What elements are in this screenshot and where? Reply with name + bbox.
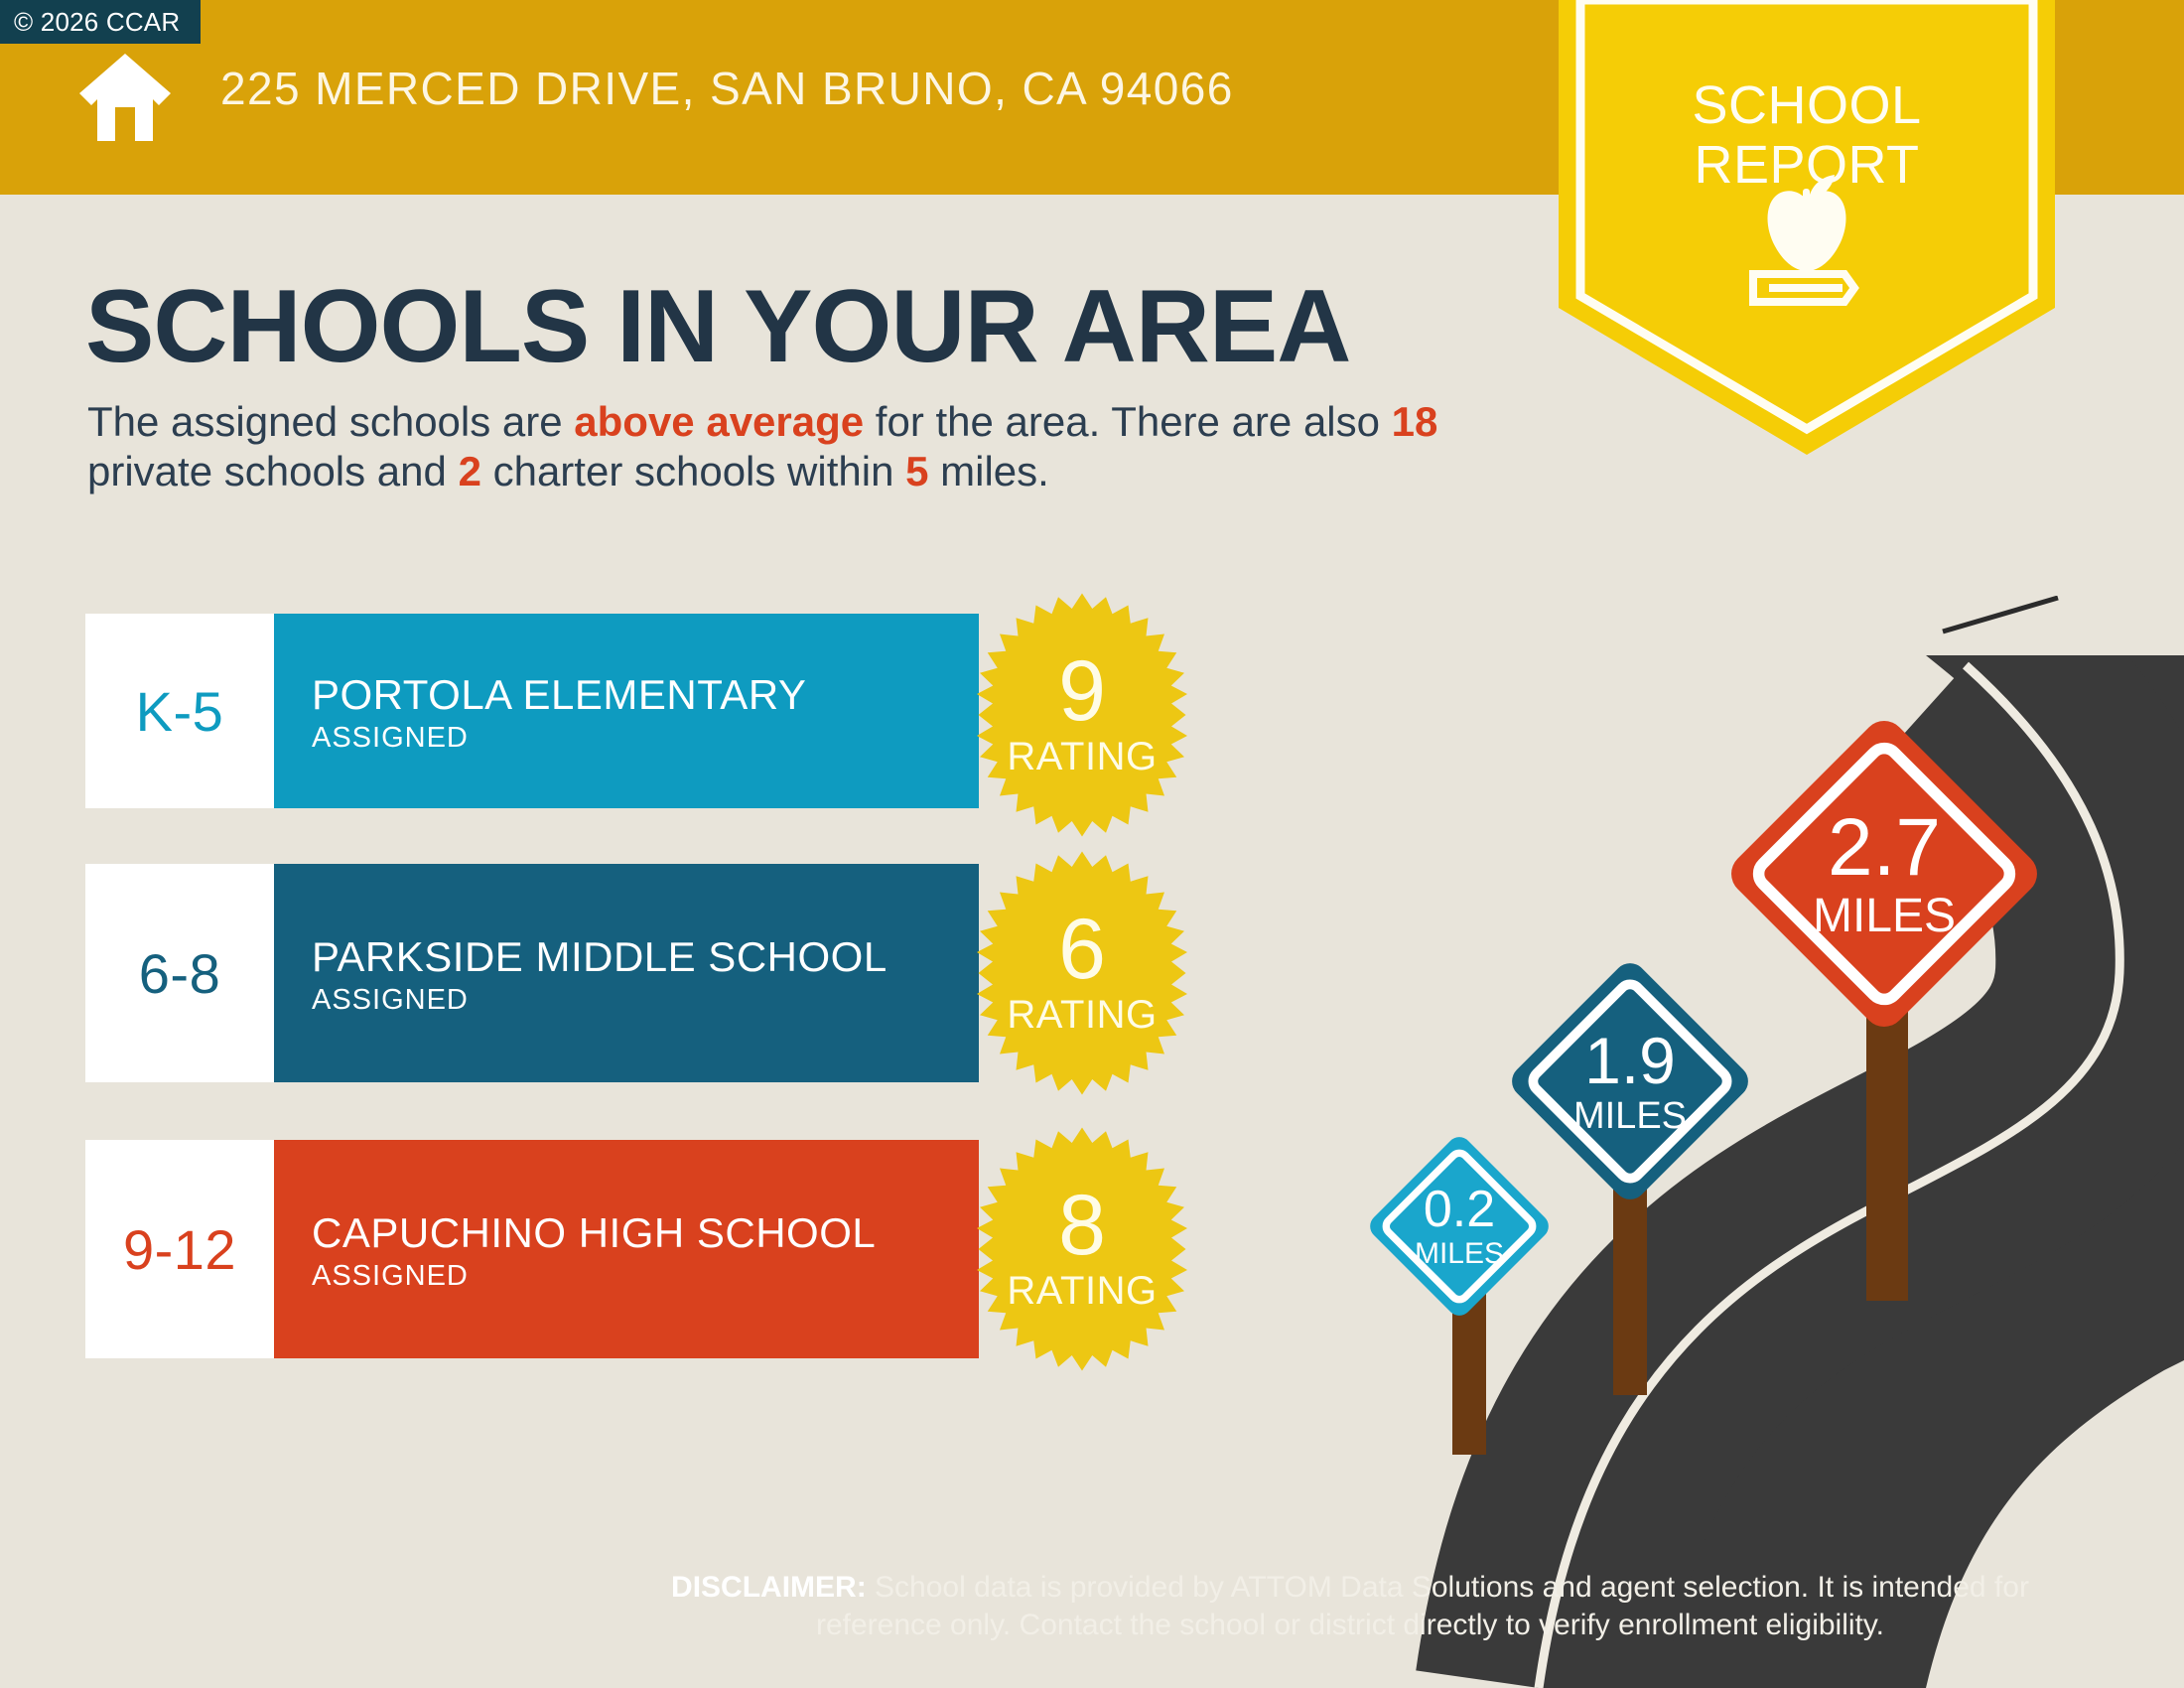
school-status: ASSIGNED: [312, 1260, 953, 1293]
school-info-box: PARKSIDE MIDDLE SCHOOL ASSIGNED: [274, 864, 979, 1082]
school-status: ASSIGNED: [312, 722, 953, 755]
school-name: PORTOLA ELEMENTARY: [312, 672, 953, 718]
rating-badge: 6 RATING: [958, 849, 1206, 1097]
summary-part-2: for the area. There are also: [864, 398, 1392, 445]
disclaimer-text: School data is provided by ATTOM Data So…: [816, 1571, 2029, 1641]
disclaimer: DISCLAIMER: School data is provided by A…: [635, 1569, 2065, 1644]
disclaimer-label: DISCLAIMER:: [671, 1571, 867, 1604]
rating-badge: 9 RATING: [958, 591, 1206, 839]
summary-text: The assigned schools are above average f…: [87, 397, 1537, 496]
grade-range-label: 6-8: [139, 941, 220, 1006]
school-name: CAPUCHINO HIGH SCHOOL: [312, 1210, 953, 1256]
copyright-text: © 2026 CCAR: [14, 7, 180, 38]
grade-range-box: 6-8: [85, 864, 274, 1082]
summary-highlight-rating: above average: [574, 398, 864, 445]
grade-range-label: K-5: [136, 679, 224, 744]
school-row[interactable]: 9-12 CAPUCHINO HIGH SCHOOL ASSIGNED: [85, 1140, 979, 1358]
home-icon: [77, 52, 173, 143]
grade-range-box: K-5: [85, 614, 274, 808]
summary-highlight-radius: 5: [905, 448, 928, 494]
school-report-banner: [1559, 0, 2055, 457]
summary-part-4: charter schools within: [481, 448, 905, 494]
summary-highlight-charter-count: 2: [459, 448, 481, 494]
distance-sign[interactable]: 2.7 MILES: [1706, 695, 2063, 1053]
school-info-box: PORTOLA ELEMENTARY ASSIGNED: [274, 614, 979, 808]
copyright-badge: © 2026 CCAR: [0, 0, 201, 44]
grade-range-label: 9-12: [123, 1217, 236, 1282]
rating-badge: 8 RATING: [958, 1125, 1206, 1373]
grade-range-box: 9-12: [85, 1140, 274, 1358]
page-title: SCHOOLS IN YOUR AREA: [85, 268, 1350, 386]
school-name: PARKSIDE MIDDLE SCHOOL: [312, 934, 953, 980]
school-row[interactable]: K-5 PORTOLA ELEMENTARY ASSIGNED: [85, 614, 979, 808]
summary-part-1: The assigned schools are: [87, 398, 574, 445]
school-row[interactable]: 6-8 PARKSIDE MIDDLE SCHOOL ASSIGNED: [85, 864, 979, 1082]
summary-part-3: private schools and: [87, 448, 459, 494]
sign-wire: [1941, 596, 2060, 635]
school-status: ASSIGNED: [312, 984, 953, 1017]
school-info-box: CAPUCHINO HIGH SCHOOL ASSIGNED: [274, 1140, 979, 1358]
property-address: 225 MERCED DRIVE, SAN BRUNO, CA 94066: [220, 62, 1234, 115]
summary-highlight-private-count: 18: [1392, 398, 1438, 445]
summary-part-5: miles.: [928, 448, 1048, 494]
